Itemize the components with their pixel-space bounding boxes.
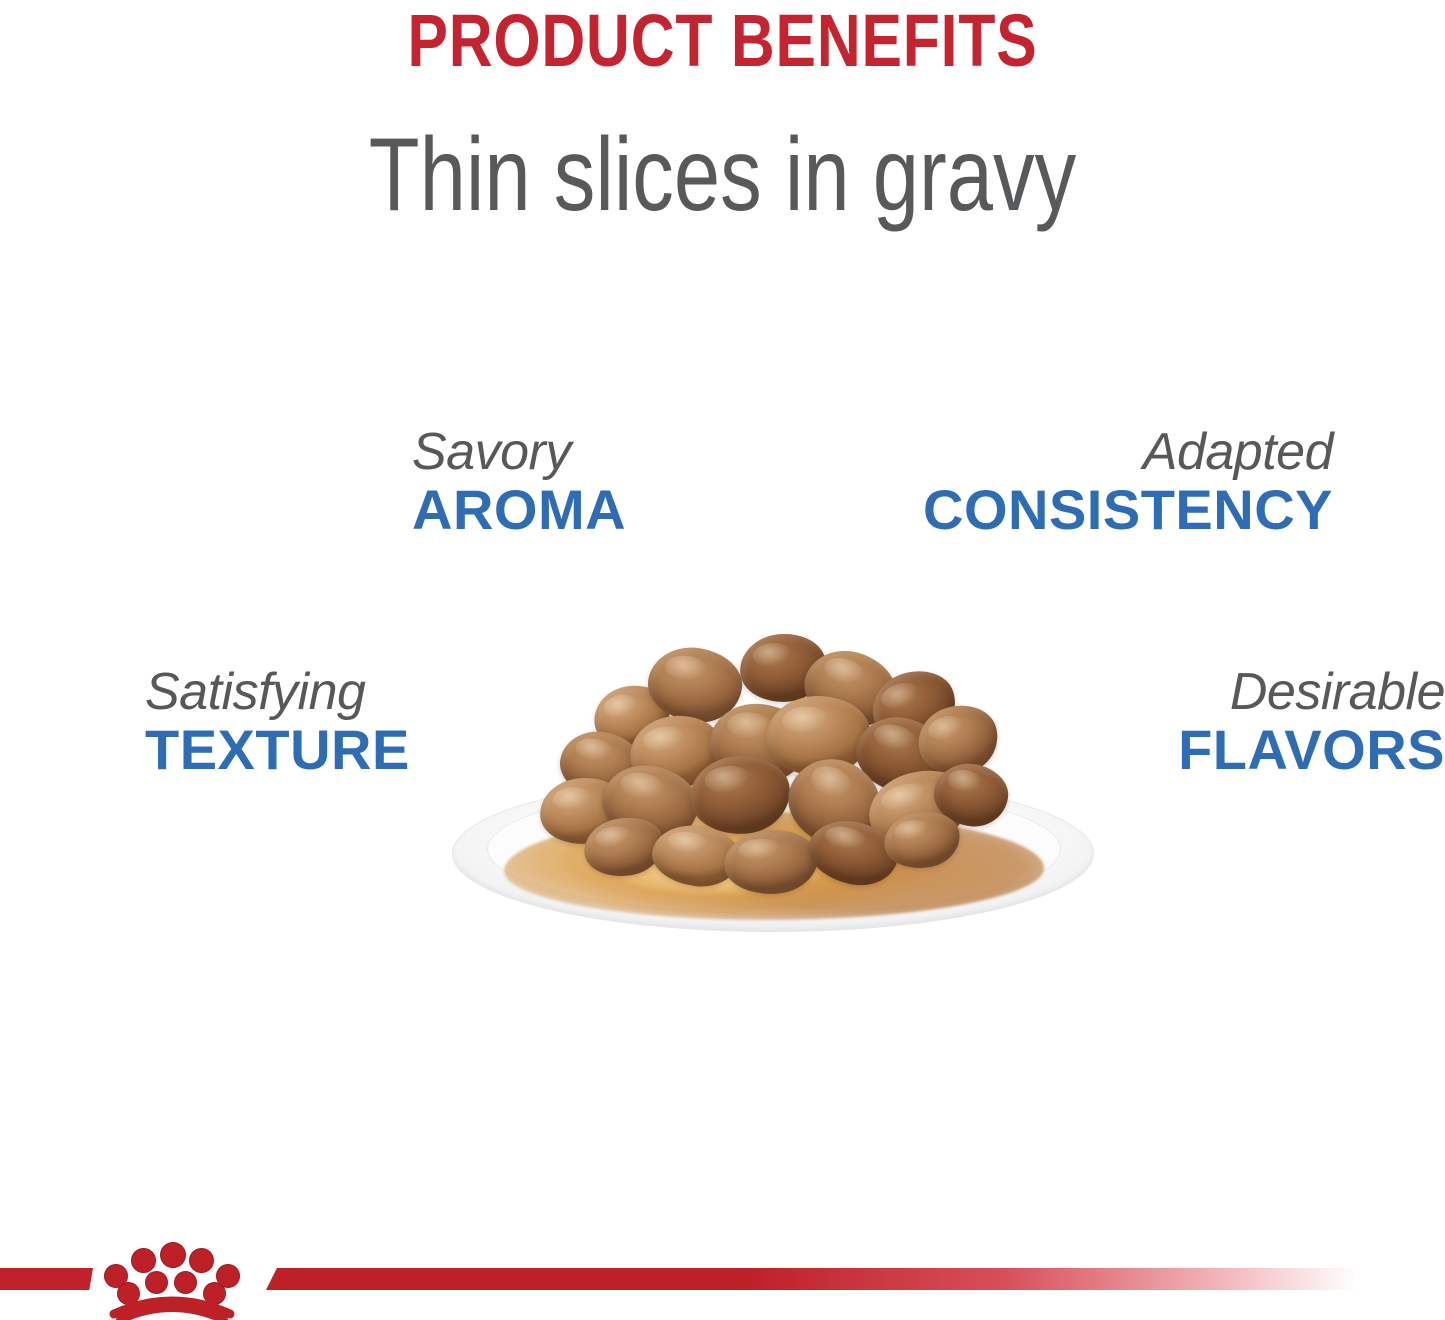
page-title: PRODUCT BENEFITS [130,4,1315,78]
benefit-consistency: Adapted CONSISTENCY [923,424,1333,541]
benefit-flavors: Desirable FLAVORS [1178,664,1445,781]
page-subtitle: Thin slices in gravy [145,123,1301,227]
royal-canin-crown-logo [98,1238,246,1320]
benefit-consistency-adjective: Adapted [923,424,1333,480]
product-food-image [452,600,1092,950]
benefit-flavors-label: FLAVORS [1178,720,1445,780]
product-benefits-panel: PRODUCT BENEFITS Thin slices in gravy Sa… [0,0,1445,1320]
benefit-texture: Satisfying TEXTURE [145,664,410,781]
footer-bar-left [0,1268,93,1290]
footer-bar-right [266,1268,1358,1290]
benefit-consistency-label: CONSISTENCY [923,480,1333,540]
benefit-flavors-adjective: Desirable [1178,664,1445,720]
benefit-aroma-adjective: Savory [412,424,626,480]
benefit-aroma: Savory AROMA [412,424,626,541]
benefit-texture-label: TEXTURE [145,720,410,780]
crown-arc-icon [98,1238,246,1320]
benefit-texture-adjective: Satisfying [145,664,410,720]
benefit-aroma-label: AROMA [412,480,626,540]
